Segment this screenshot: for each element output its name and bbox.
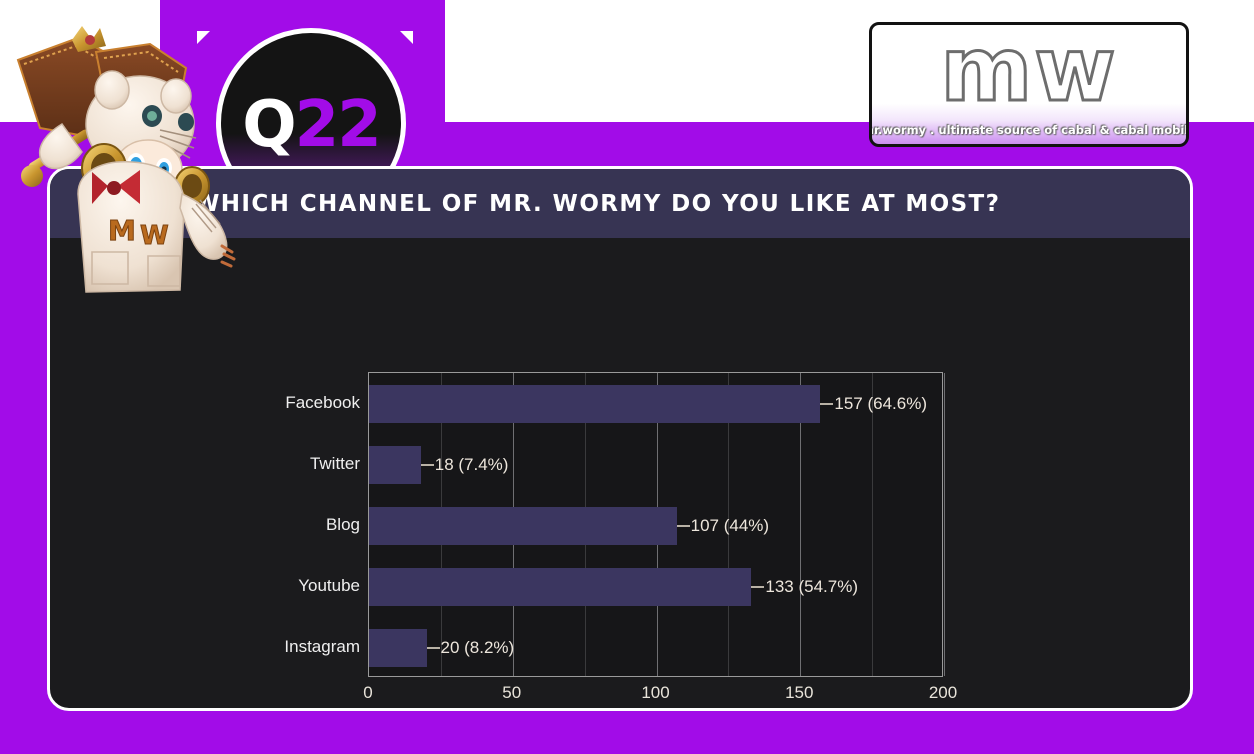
x-tick-label: 200 — [929, 683, 957, 703]
bar-blog[interactable] — [369, 507, 677, 545]
badge-question-number: 22 — [295, 88, 380, 162]
bar-series: 157 (64.6%)18 (7.4%)107 (44%)133 (54.7%)… — [369, 373, 942, 676]
bar-value-label: 107 (44%) — [691, 516, 769, 536]
x-tick-label: 0 — [363, 683, 372, 703]
svg-text:W: W — [140, 221, 169, 251]
category-axis: FacebookTwitterBlogYoutubeInstagram — [200, 372, 360, 677]
bar-label-connector — [751, 586, 764, 588]
category-label-twitter: Twitter — [310, 454, 360, 474]
bar-row[interactable]: 18 (7.4%) — [369, 436, 942, 494]
page-title: WHICH CHANNEL OF MR. WORMY DO YOU LIKE A… — [194, 191, 1000, 217]
bar-label-connector — [677, 525, 690, 527]
category-label-instagram: Instagram — [284, 637, 360, 657]
bar-value-label: 133 (54.7%) — [765, 577, 858, 597]
bar-row[interactable]: 107 (44%) — [369, 497, 942, 555]
plot-area: 157 (64.6%)18 (7.4%)107 (44%)133 (54.7%)… — [368, 372, 943, 677]
category-label-blog: Blog — [326, 515, 360, 535]
svg-text:M: M — [108, 214, 136, 247]
bar-label-connector — [820, 403, 833, 405]
gridline — [944, 373, 945, 676]
mascot-character-icon: M W — [0, 18, 240, 298]
bar-row[interactable]: 157 (64.6%) — [369, 375, 942, 433]
bar-value-label: 157 (64.6%) — [834, 394, 927, 414]
category-label-youtube: Youtube — [298, 576, 360, 596]
category-label-facebook: Facebook — [285, 393, 360, 413]
corner-bracket-icon — [400, 31, 413, 44]
bar-chart: FacebookTwitterBlogYoutubeInstagram 157 … — [50, 238, 1190, 711]
bar-youtube[interactable] — [369, 568, 751, 606]
badge-label: Q22 — [242, 93, 379, 157]
x-tick-label: 150 — [785, 683, 813, 703]
bar-value-label: 20 (8.2%) — [441, 638, 515, 658]
bar-row[interactable]: 133 (54.7%) — [369, 558, 942, 616]
logo-tagline: mr.wormy . ultimate source of cabal & ca… — [869, 123, 1189, 137]
x-axis-ticks: 050100150200 — [368, 683, 943, 709]
x-tick-label: 50 — [502, 683, 521, 703]
mr-wormy-logo: mw mr.wormy . ultimate source of cabal &… — [869, 22, 1189, 147]
bar-row[interactable]: 20 (8.2%) — [369, 619, 942, 677]
logo-wordmark: mw — [941, 27, 1118, 113]
bar-label-connector — [427, 647, 440, 649]
bar-twitter[interactable] — [369, 446, 421, 484]
bar-label-connector — [421, 464, 434, 466]
badge-q-letter: Q — [242, 88, 294, 162]
bar-instagram[interactable] — [369, 629, 427, 667]
bar-value-label: 18 (7.4%) — [435, 455, 509, 475]
poll-slide: Q22 mw mr.wormy . ultimate source of cab… — [0, 0, 1254, 754]
bar-facebook[interactable] — [369, 385, 820, 423]
x-tick-label: 100 — [641, 683, 669, 703]
